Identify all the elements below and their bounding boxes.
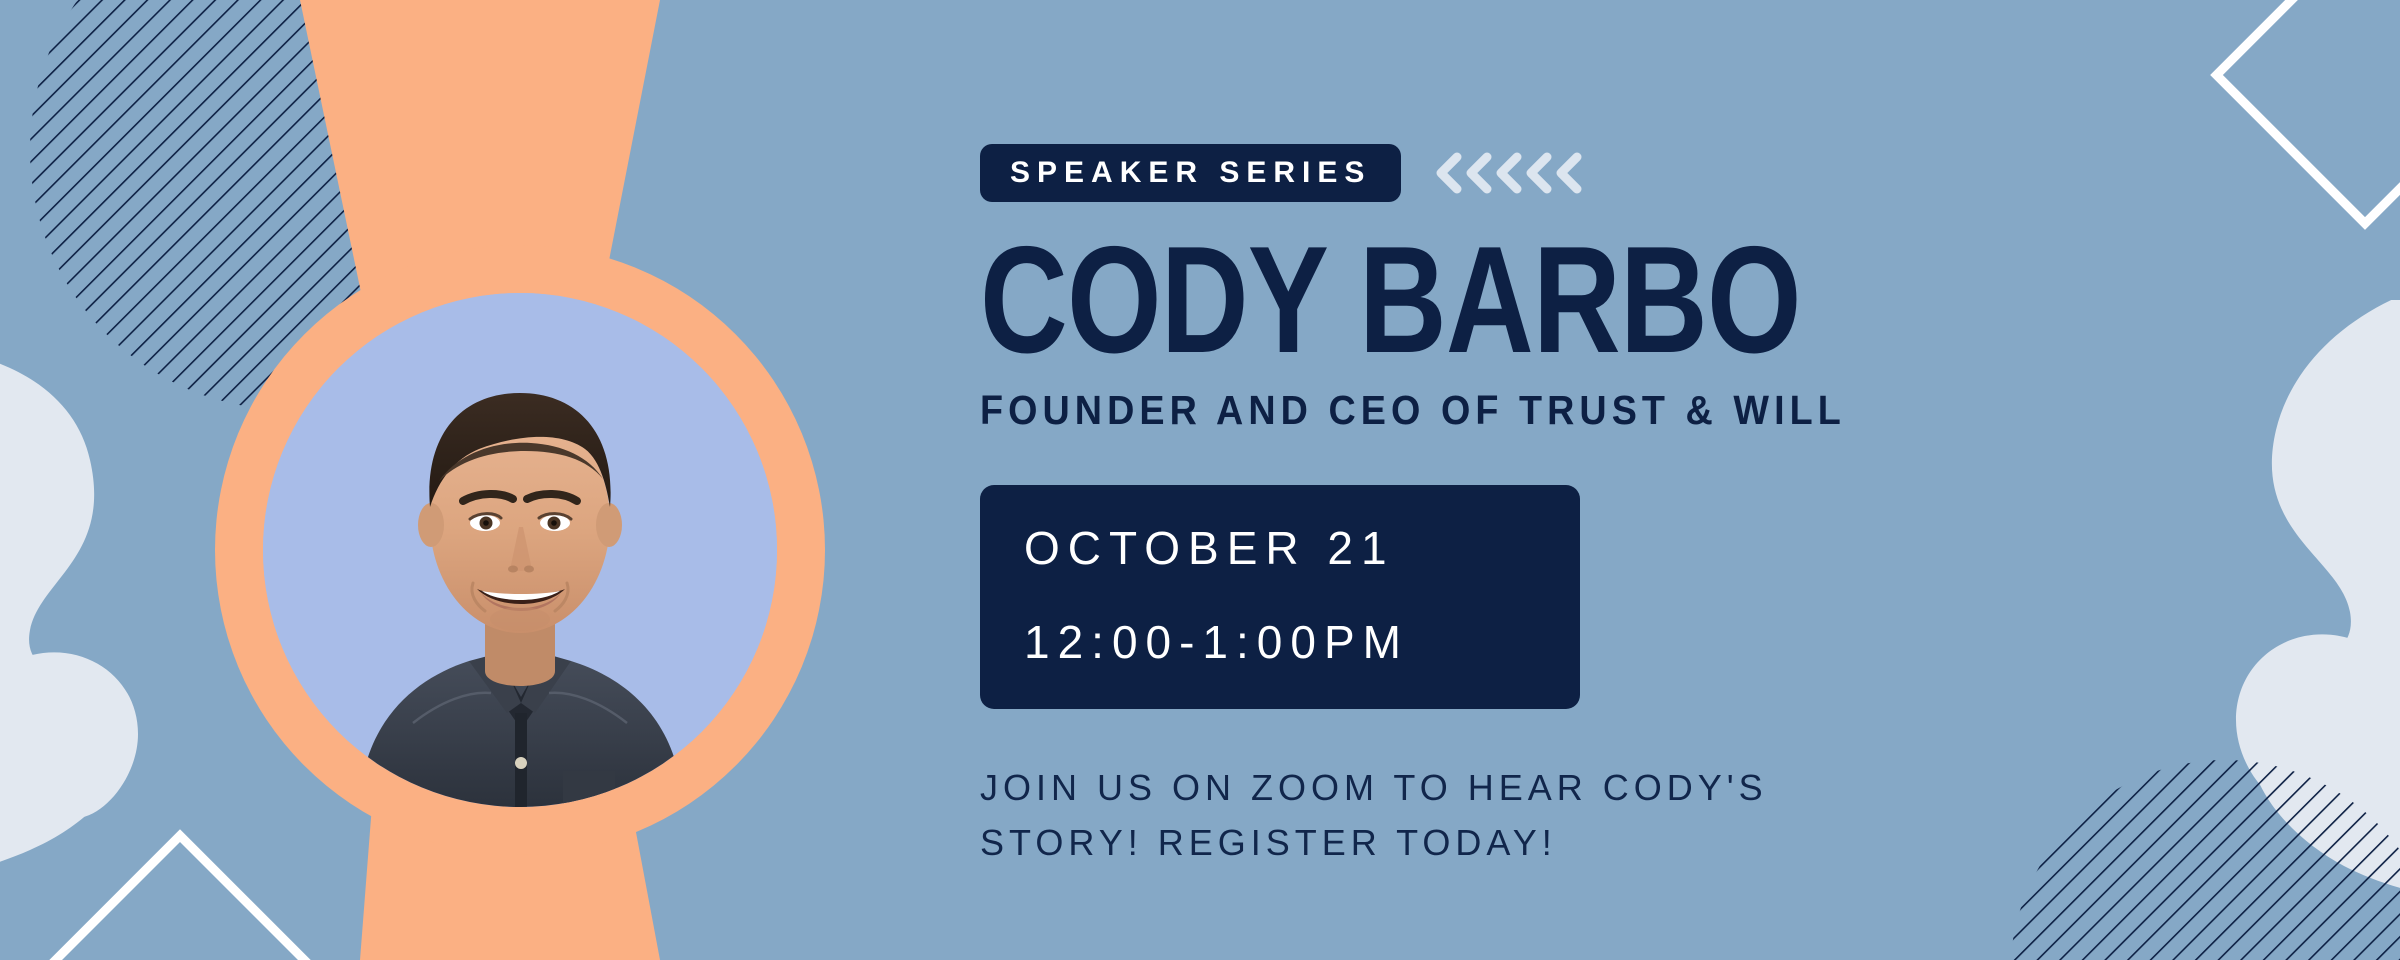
chevron-left-icon [1433,150,1583,196]
speaker-series-banner: SPEAKER SERIES CODY BARBO FOUNDER AND CE… [0,0,2400,960]
speaker-name: CODY BARBO [980,224,1884,376]
portrait-photo-icon [263,293,777,807]
cta-line-2: STORY! REGISTER TODAY! [980,816,1880,871]
event-time: 12:00-1:00PM [1024,619,1580,665]
event-datetime-box: OCTOBER 21 12:00-1:00PM [980,485,1580,709]
diamond-outline-top-right-icon [2200,0,2400,240]
speaker-series-badge: SPEAKER SERIES [980,144,1401,202]
banner-content: SPEAKER SERIES CODY BARBO FOUNDER AND CE… [980,140,2110,871]
cta-line-1: JOIN US ON ZOOM TO HEAR CODY'S [980,761,1880,816]
speaker-role: FOUNDER AND CEO OF TRUST & WILL [980,388,2020,433]
event-date: OCTOBER 21 [1024,525,1580,571]
chevron-group [1433,144,1583,202]
speaker-portrait [215,245,825,855]
portrait-disc [263,293,777,807]
badge-row: SPEAKER SERIES [980,140,2110,206]
cta-text: JOIN US ON ZOOM TO HEAR CODY'S STORY! RE… [980,761,1880,870]
